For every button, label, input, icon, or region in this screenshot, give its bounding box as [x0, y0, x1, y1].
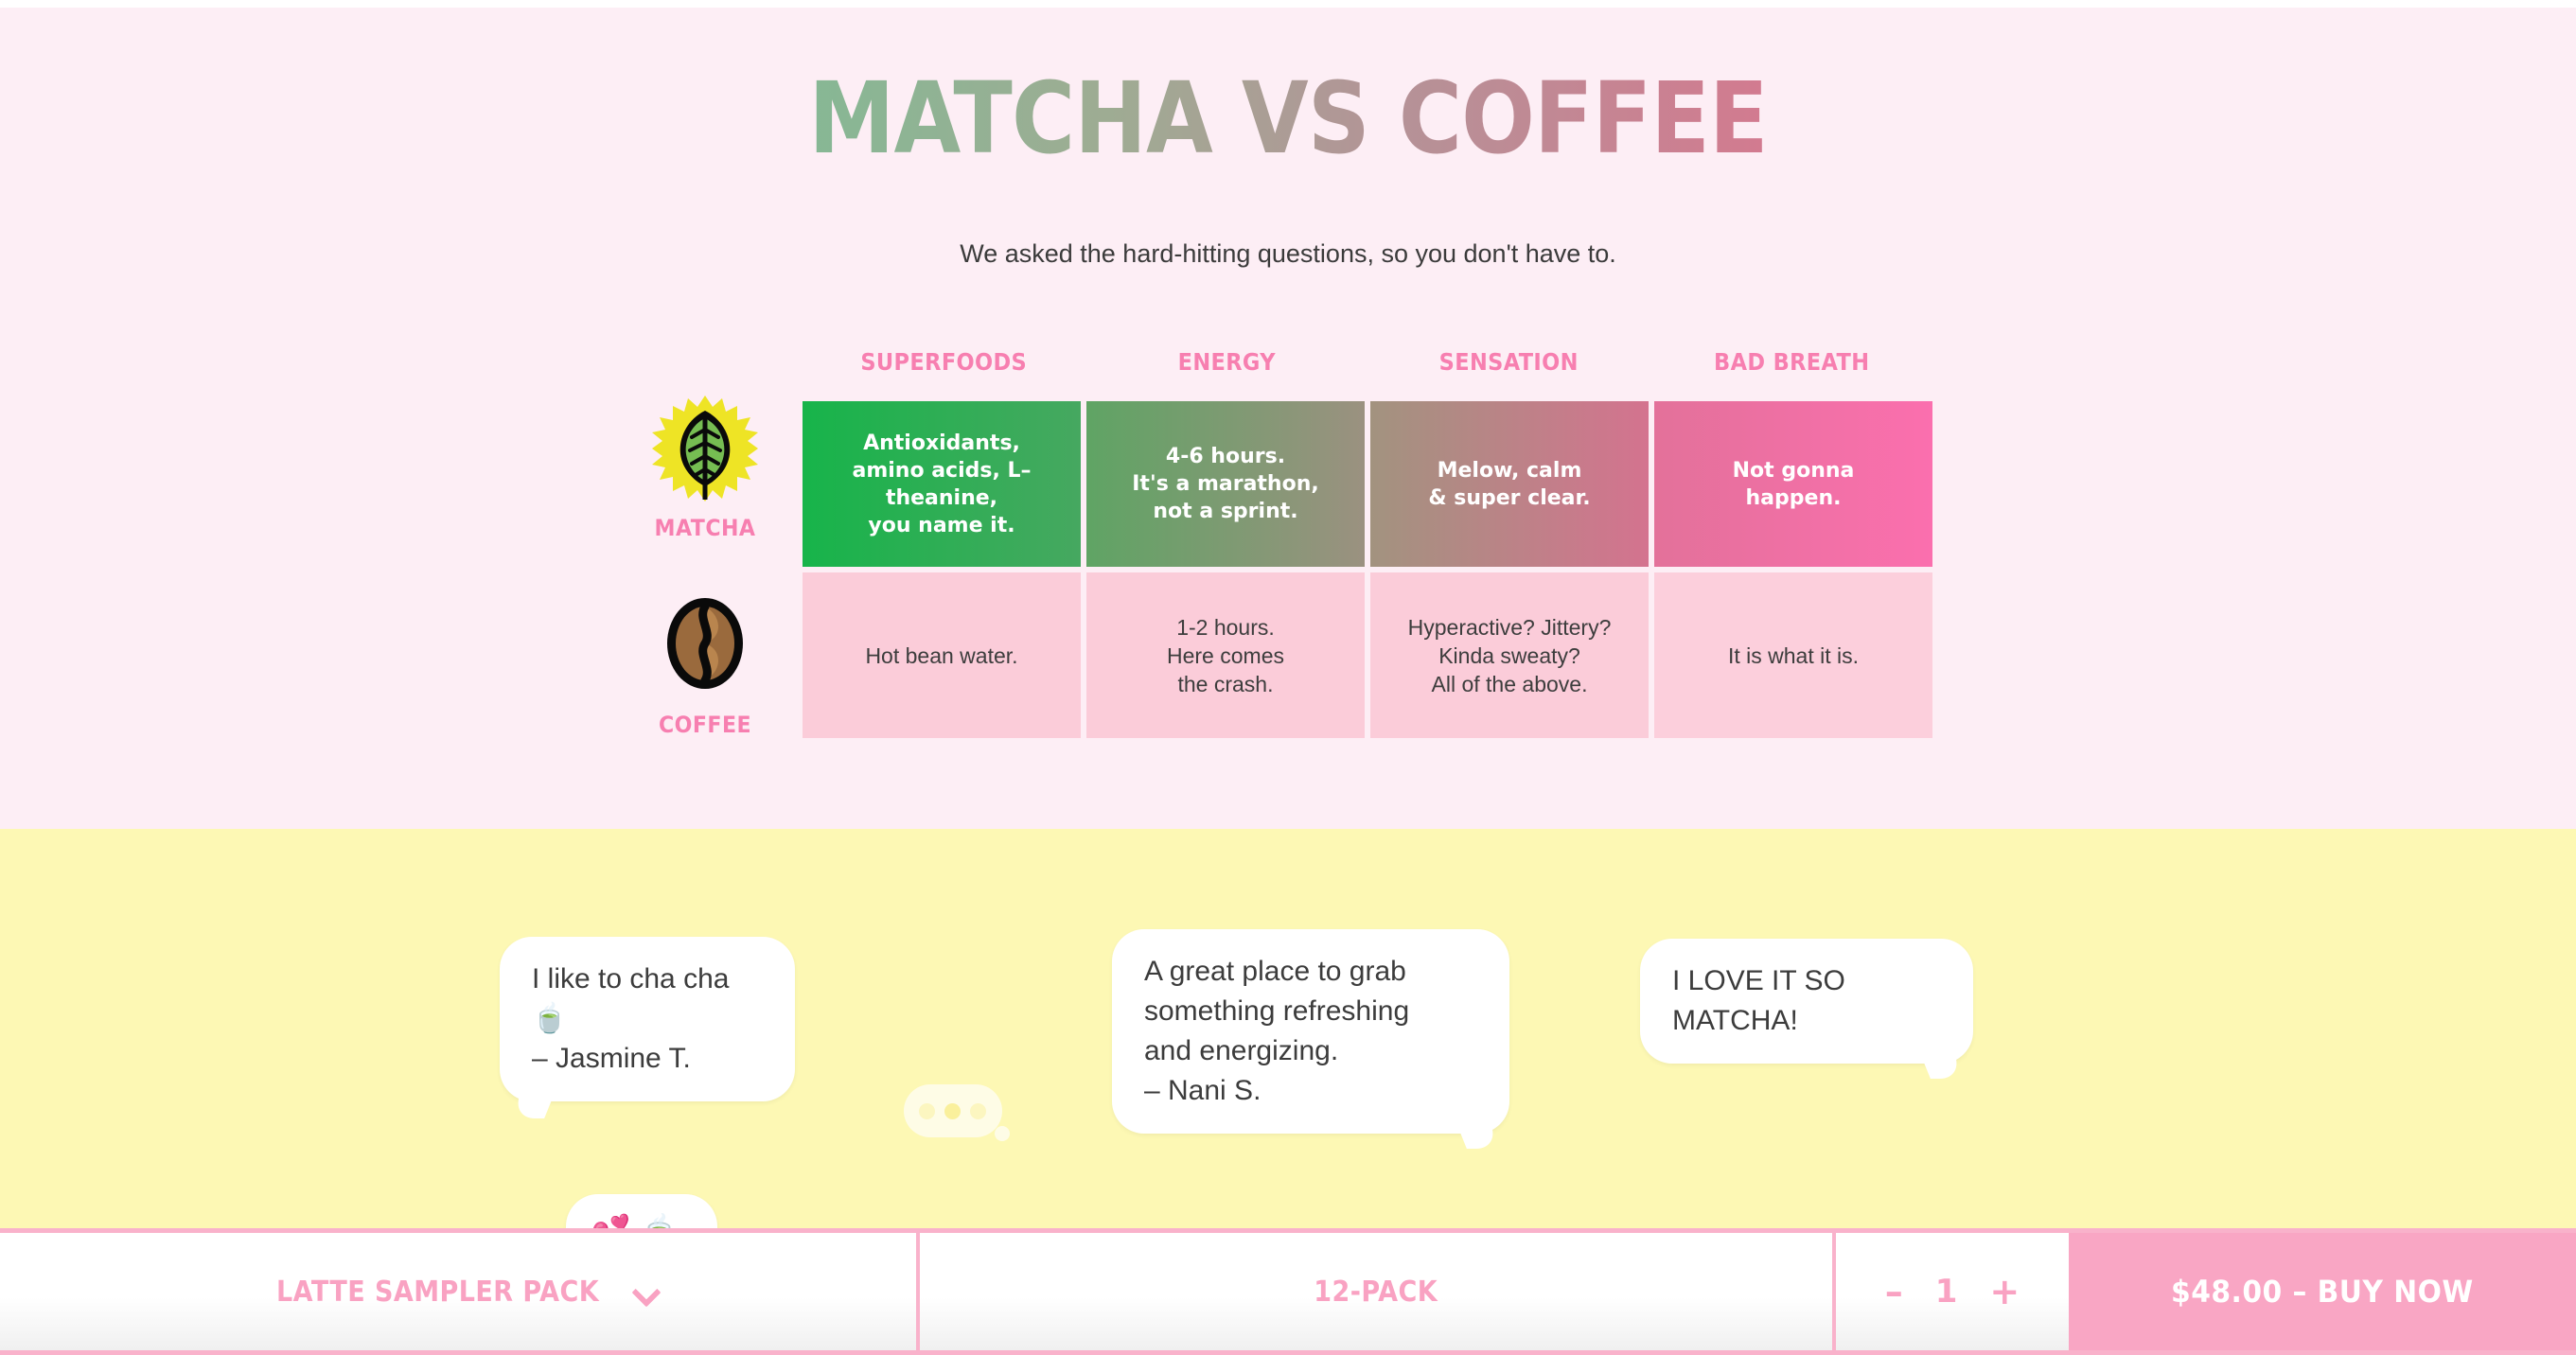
typing-dot — [970, 1103, 986, 1119]
buy-now-label: $48.00 – BUY NOW — [2171, 1274, 2474, 1310]
comparison-table: SUPERFOODS ENERGY SENSATION BAD BREATH A… — [803, 348, 1932, 731]
testimonial-bubble-2: A great place to grabsomething refreshin… — [1112, 929, 1509, 1134]
cell-coffee-bad-breath: It is what it is. — [1654, 572, 1932, 738]
column-header-energy: ENERGY — [1099, 348, 1353, 392]
testimonial-bubble-3: I LOVE IT SO MATCHA! — [1640, 939, 1973, 1064]
typing-dot — [944, 1103, 961, 1119]
table-row-matcha: Antioxidants,amino acids, L–theanine,you… — [803, 401, 1932, 567]
cell-matcha-energy: 4-6 hours.It's a marathon,not a sprint. — [1086, 401, 1365, 567]
row-label-coffee-text: COFFEE — [623, 712, 788, 738]
column-header-bad-breath: BAD BREATH — [1664, 348, 1918, 392]
comparison-section: MATCHA VS COFFEE We asked the hard-hitti… — [0, 8, 2576, 829]
row-label-coffee: COFFEE — [615, 590, 795, 738]
purchase-bar: LATTE SAMPLER PACK 12-PACK – 1 + $48.00 … — [0, 1228, 2576, 1355]
product-select[interactable]: LATTE SAMPLER PACK — [0, 1233, 916, 1350]
quantity-decrease-button[interactable]: – — [1885, 1274, 1903, 1310]
column-header-sensation: SENSATION — [1382, 348, 1636, 392]
buy-now-button[interactable]: $48.00 – BUY NOW — [2069, 1233, 2576, 1350]
bubble-tail-icon — [995, 1126, 1010, 1141]
column-header-superfoods: SUPERFOODS — [817, 348, 1071, 392]
cell-coffee-superfoods: Hot bean water. — [803, 572, 1081, 738]
page-root: MATCHA VS COFFEE We asked the hard-hitti… — [0, 0, 2576, 1355]
comparison-column-headers: SUPERFOODS ENERGY SENSATION BAD BREATH — [803, 348, 1932, 392]
quantity-stepper: – 1 + — [1832, 1233, 2069, 1350]
page-subtitle: We asked the hard-hitting questions, so … — [0, 238, 2576, 270]
cell-matcha-sensation: Melow, calm& super clear. — [1370, 401, 1649, 567]
testimonial-text-3: I LOVE IT SO MATCHA! — [1672, 965, 1845, 1036]
quantity-value: 1 — [1935, 1273, 1958, 1311]
typing-dot — [919, 1103, 935, 1119]
testimonial-text-1: I like to cha cha 🍵– Jasmine T. — [532, 963, 729, 1074]
testimonial-bubble-1: I like to cha cha 🍵– Jasmine T. — [500, 937, 795, 1101]
variant-select[interactable]: 12-PACK — [916, 1233, 1832, 1350]
table-row-coffee: Hot bean water. 1-2 hours.Here comesthe … — [803, 572, 1932, 738]
quantity-increase-button[interactable]: + — [1989, 1274, 2020, 1310]
variant-select-label: 12-PACK — [1314, 1276, 1438, 1309]
matcha-leaf-starburst-icon — [615, 394, 795, 503]
testimonial-text-2: A great place to grabsomething refreshin… — [1144, 956, 1409, 1106]
row-label-matcha-text: MATCHA — [623, 515, 788, 541]
page-title: MATCHA VS COFFEE — [154, 66, 2421, 170]
row-label-matcha: MATCHA — [615, 394, 795, 541]
cell-matcha-superfoods: Antioxidants,amino acids, L–theanine,you… — [803, 401, 1081, 567]
cell-coffee-energy: 1-2 hours.Here comesthe crash. — [1086, 572, 1365, 738]
typing-indicator-icon — [904, 1084, 1002, 1137]
chevron-down-icon — [633, 1279, 658, 1304]
product-select-label: LATTE SAMPLER PACK — [276, 1276, 599, 1309]
cell-matcha-bad-breath: Not gonnahappen. — [1654, 401, 1932, 567]
coffee-bean-icon — [615, 590, 795, 700]
cell-coffee-sensation: Hyperactive? Jittery?Kinda sweaty?All of… — [1370, 572, 1649, 738]
